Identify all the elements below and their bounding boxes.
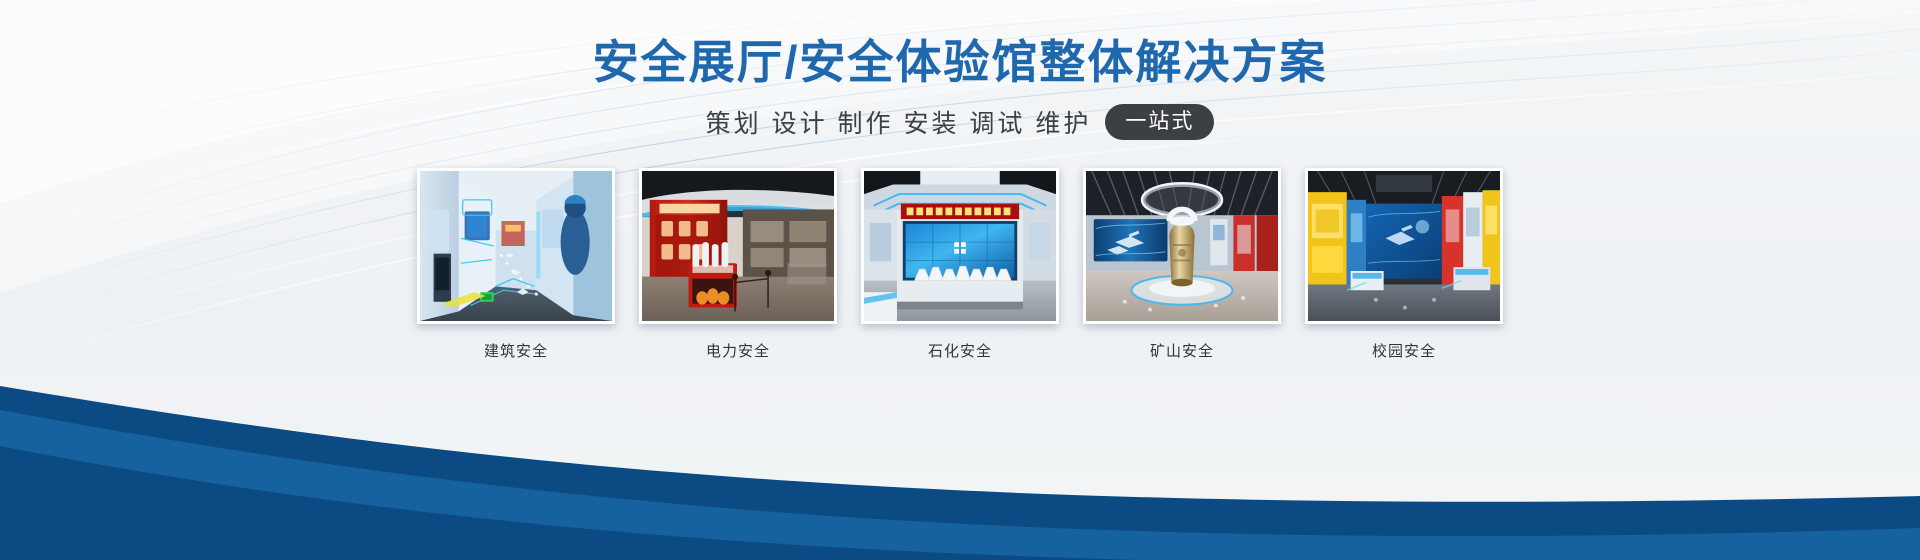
- page-title: 安全展厅/安全体验馆整体解决方案: [0, 26, 1920, 92]
- card-thumbnail-petrochemical[interactable]: [861, 168, 1059, 324]
- gallery-card[interactable]: 矿山安全: [1083, 168, 1281, 361]
- gallery-card[interactable]: 石化安全: [861, 168, 1059, 361]
- card-thumbnail-mining[interactable]: [1083, 168, 1281, 324]
- card-thumbnail-power[interactable]: [639, 168, 837, 324]
- card-caption: 矿山安全: [1150, 340, 1214, 361]
- gallery-card[interactable]: 校园安全: [1305, 168, 1503, 361]
- card-thumbnail-building[interactable]: [417, 168, 615, 324]
- card-gallery: 建筑安全: [0, 168, 1920, 361]
- gallery-card[interactable]: 电力安全: [639, 168, 837, 361]
- gallery-card[interactable]: 建筑安全: [417, 168, 615, 361]
- card-caption: 校园安全: [1372, 340, 1436, 361]
- card-thumbnail-campus[interactable]: [1305, 168, 1503, 324]
- card-caption: 建筑安全: [484, 340, 548, 361]
- card-caption: 电力安全: [706, 340, 770, 361]
- subtitle-row: 策划 设计 制作 安装 调试 维护 一站式: [0, 104, 1920, 140]
- promo-banner: 安全展厅/安全体验馆整体解决方案 策划 设计 制作 安装 调试 维护 一站式: [0, 0, 1920, 560]
- card-caption: 石化安全: [928, 340, 992, 361]
- one-stop-badge: 一站式: [1105, 104, 1214, 140]
- subtitle-text: 策划 设计 制作 安装 调试 维护: [706, 104, 1092, 140]
